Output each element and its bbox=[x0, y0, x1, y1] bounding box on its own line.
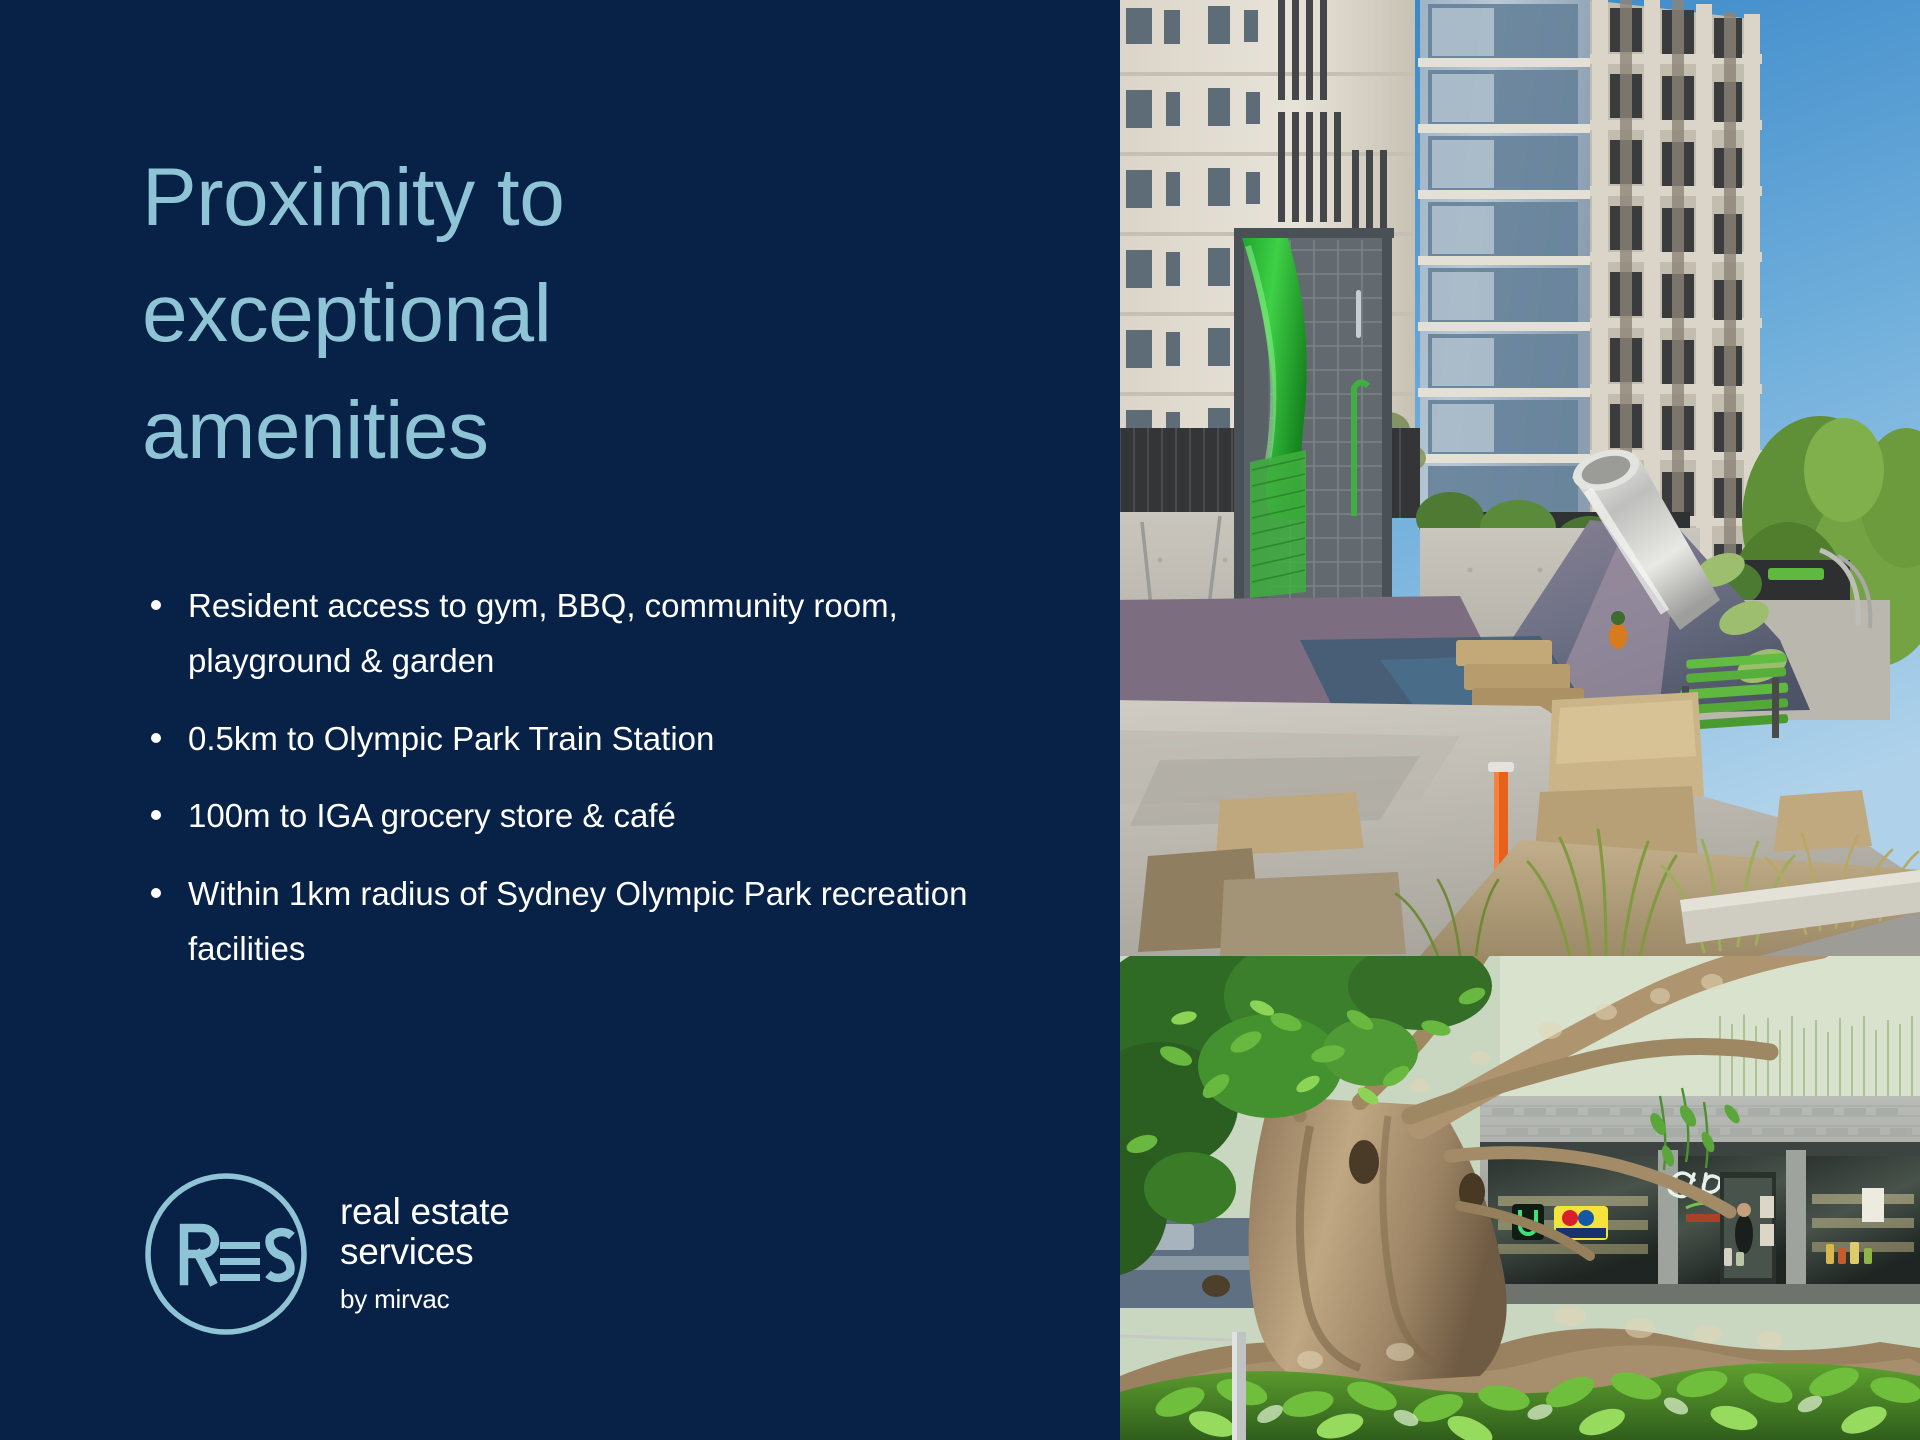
list-item: 0.5km to Olympic Park Train Station bbox=[148, 711, 1068, 766]
bullet-dot-icon bbox=[151, 733, 161, 743]
logo-line-3: by mirvac bbox=[340, 1284, 509, 1315]
playground-photo-illustration bbox=[1120, 0, 1920, 956]
photo-playground-apartments bbox=[1120, 0, 1920, 956]
bullet-dot-icon bbox=[151, 888, 161, 898]
logo-wordmark: real estate services by mirvac bbox=[340, 1192, 509, 1315]
logo-line-2: services bbox=[340, 1232, 509, 1272]
brand-logo: real estate services by mirvac bbox=[140, 1168, 509, 1340]
amenities-bullet-list: Resident access to gym, BBQ, community r… bbox=[148, 578, 1068, 977]
content-panel: Proximity to exceptional amenities Resid… bbox=[0, 0, 1120, 1440]
logo-line-1: real estate bbox=[340, 1192, 509, 1232]
photo-figtree-cafe bbox=[1120, 956, 1920, 1440]
play-figure bbox=[1609, 611, 1627, 649]
list-item-label: Within 1km radius of Sydney Olympic Park… bbox=[188, 875, 967, 967]
bullet-dot-icon bbox=[151, 600, 161, 610]
bullet-dot-icon bbox=[151, 810, 161, 820]
res-circle-monogram-icon bbox=[140, 1168, 312, 1340]
slide-root: Proximity to exceptional amenities Resid… bbox=[0, 0, 1920, 1440]
page-title: Proximity to exceptional amenities bbox=[142, 140, 1002, 489]
list-item-label: Resident access to gym, BBQ, community r… bbox=[188, 587, 898, 679]
list-item-label: 0.5km to Olympic Park Train Station bbox=[188, 720, 714, 757]
list-item: Within 1km radius of Sydney Olympic Park… bbox=[148, 866, 1068, 977]
cafe-photo-illustration bbox=[1120, 956, 1920, 1440]
list-item-label: 100m to IGA grocery store & café bbox=[188, 797, 676, 834]
list-item: 100m to IGA grocery store & café bbox=[148, 788, 1068, 843]
photo-column bbox=[1120, 0, 1920, 1440]
list-item: Resident access to gym, BBQ, community r… bbox=[148, 578, 1068, 689]
green-tube-slide-structure bbox=[1234, 228, 1394, 618]
